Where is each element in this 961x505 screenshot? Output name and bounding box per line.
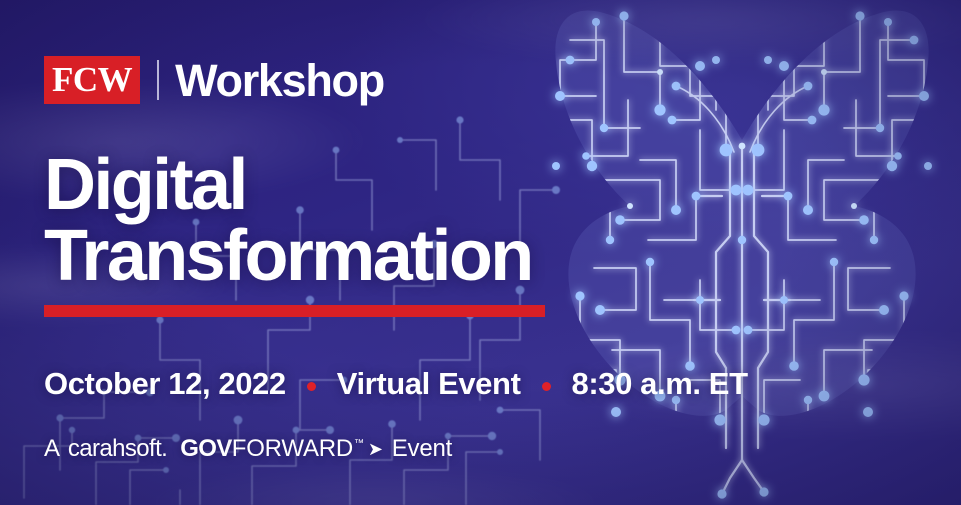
event-time: 8:30 a.m. ET	[572, 366, 748, 402]
bullet-separator-icon	[307, 382, 316, 391]
title-underline-rule	[44, 305, 545, 317]
banner-header: FCW Workshop	[44, 56, 384, 104]
page-title: Digital Transformation	[44, 150, 532, 293]
footer-suffix: Event	[392, 437, 452, 461]
arrow-right-icon: ➤	[368, 440, 383, 458]
event-promo-banner: FCW Workshop Digital Transformation Octo…	[0, 0, 961, 505]
title-line-2: Transformation	[44, 221, 532, 292]
vertical-divider-icon	[157, 60, 159, 100]
event-date: October 12, 2022	[44, 366, 286, 402]
govforward-gov: GOV	[180, 437, 232, 461]
event-format: Virtual Event	[337, 366, 521, 402]
event-meta: October 12, 2022 Virtual Event 8:30 a.m.…	[44, 366, 748, 402]
workshop-label: Workshop	[175, 58, 384, 103]
title-line-1: Digital	[44, 150, 532, 221]
footer-prefix: A	[44, 437, 60, 461]
fcw-logo: FCW	[44, 56, 140, 104]
bullet-separator-icon	[542, 382, 551, 391]
presenter-footer: A carahsoft. GOV FORWARD ™ ➤ Event	[44, 437, 452, 461]
trademark-icon: ™	[354, 439, 364, 449]
govforward-forward: FORWARD	[232, 437, 353, 461]
carahsoft-wordmark: carahsoft.	[68, 437, 167, 461]
